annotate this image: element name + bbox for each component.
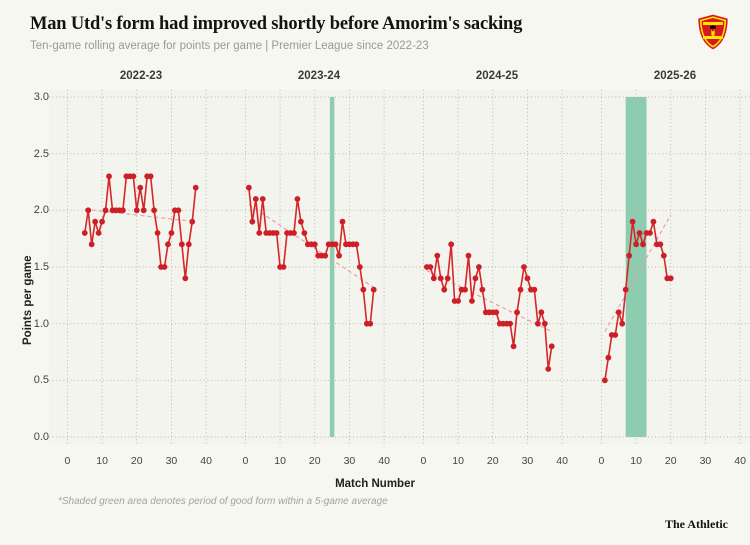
footnote: *Shaded green area denotes period of goo…: [58, 496, 388, 507]
data-point: [189, 219, 195, 225]
data-point: [92, 219, 98, 225]
data-point: [637, 230, 643, 236]
data-point: [476, 264, 482, 270]
data-point: [493, 309, 499, 315]
data-point: [507, 321, 513, 327]
facet-panel-2025-26: [583, 90, 750, 444]
data-point: [106, 173, 112, 179]
data-point: [445, 275, 451, 281]
facet-panel-2023-24: [227, 90, 406, 444]
data-point: [521, 264, 527, 270]
data-point: [434, 253, 440, 259]
data-point: [155, 230, 161, 236]
data-point: [82, 230, 88, 236]
data-point: [169, 230, 175, 236]
data-point: [535, 321, 541, 327]
data-point: [175, 207, 181, 213]
facet-panel-2022-23: [49, 90, 228, 444]
data-point: [549, 343, 555, 349]
data-point: [322, 253, 328, 259]
data-point: [647, 230, 653, 236]
data-point: [360, 287, 366, 293]
data-point: [151, 207, 157, 213]
data-point: [371, 287, 377, 293]
data-point: [253, 196, 259, 202]
data-point: [162, 264, 168, 270]
data-point: [137, 185, 143, 191]
data-point: [438, 275, 444, 281]
data-point: [525, 275, 531, 281]
data-point: [668, 275, 674, 281]
data-point: [291, 230, 297, 236]
data-point: [298, 219, 304, 225]
data-point: [312, 241, 318, 247]
data-point: [462, 287, 468, 293]
data-point: [179, 241, 185, 247]
data-point: [165, 241, 171, 247]
data-point: [640, 241, 646, 247]
data-point: [545, 366, 551, 372]
data-point: [616, 309, 622, 315]
data-point: [661, 253, 667, 259]
data-point: [448, 241, 454, 247]
data-point: [479, 287, 485, 293]
data-point: [633, 241, 639, 247]
data-point: [657, 241, 663, 247]
data-point: [431, 275, 437, 281]
data-point: [274, 230, 280, 236]
data-point: [134, 207, 140, 213]
data-point: [103, 207, 109, 213]
data-point: [281, 264, 287, 270]
data-point: [130, 173, 136, 179]
chart-root: Man Utd's form had improved shortly befo…: [0, 0, 750, 545]
data-point: [333, 241, 339, 247]
data-point: [623, 287, 629, 293]
data-point: [246, 185, 252, 191]
data-point: [193, 185, 199, 191]
data-point: [256, 230, 262, 236]
data-point: [473, 275, 479, 281]
data-point: [301, 230, 307, 236]
plot-canvas: [0, 0, 750, 545]
data-point: [357, 264, 363, 270]
data-point: [99, 219, 105, 225]
data-point: [542, 321, 548, 327]
data-point: [249, 219, 255, 225]
brand-logo-text: The Athletic: [665, 517, 728, 532]
data-point: [96, 230, 102, 236]
data-point: [141, 207, 147, 213]
data-point: [466, 253, 472, 259]
data-point: [630, 219, 636, 225]
data-point: [511, 343, 517, 349]
data-point: [469, 298, 475, 304]
data-point: [336, 253, 342, 259]
data-point: [605, 355, 611, 361]
data-point: [538, 309, 544, 315]
facet-panel-2024-25: [405, 90, 584, 444]
data-point: [531, 287, 537, 293]
data-point: [186, 241, 192, 247]
data-point: [626, 253, 632, 259]
data-point: [260, 196, 266, 202]
data-point: [340, 219, 346, 225]
data-point: [612, 332, 618, 338]
data-point: [182, 275, 188, 281]
data-point: [514, 309, 520, 315]
data-point: [455, 298, 461, 304]
data-point: [85, 207, 91, 213]
data-point: [651, 219, 657, 225]
data-point: [441, 287, 447, 293]
data-point: [89, 241, 95, 247]
data-point: [353, 241, 359, 247]
data-point: [148, 173, 154, 179]
data-point: [295, 196, 301, 202]
data-point: [619, 321, 625, 327]
data-point: [367, 321, 373, 327]
data-point: [427, 264, 433, 270]
data-point: [518, 287, 524, 293]
data-point: [120, 207, 126, 213]
data-point: [602, 377, 608, 383]
